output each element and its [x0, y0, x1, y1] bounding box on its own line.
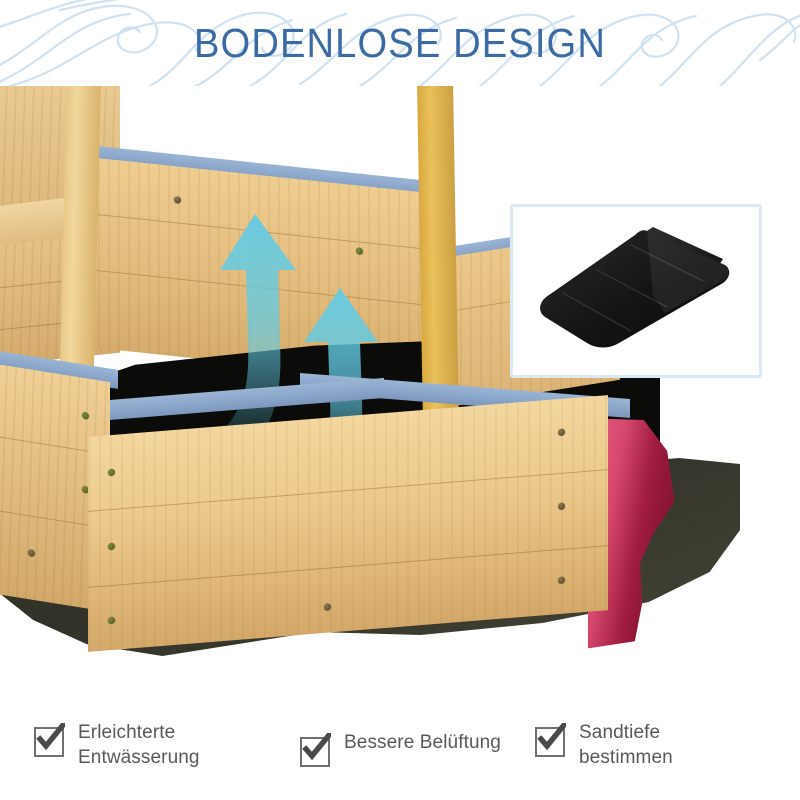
- product-photo: [0, 86, 800, 706]
- feature-list: Erleichterte Entwässerung Bessere Belüft…: [0, 706, 800, 800]
- checkbox-checked-icon: [34, 723, 65, 754]
- checkbox-checked-icon: [535, 723, 566, 754]
- front-wall-panel: [88, 395, 608, 652]
- feature-label: Sandtiefe bestimmen: [579, 720, 673, 770]
- mast-post-center: [417, 86, 459, 427]
- feature-item-drainage: Erleichterte Entwässerung: [34, 720, 200, 770]
- feature-item-sand-depth: Sandtiefe bestimmen: [535, 720, 673, 770]
- feature-label: Erleichterte Entwässerung: [78, 720, 200, 770]
- feature-item-ventilation: Bessere Belüftung: [300, 730, 501, 764]
- product-feature-image: BODENLOSE DESIGN: [0, 0, 800, 800]
- liner-inset: [510, 204, 762, 378]
- page-title: BODENLOSE DESIGN: [28, 20, 772, 67]
- header-banner: BODENLOSE DESIGN: [0, 0, 800, 86]
- geotextile-liner-folded-icon: [535, 225, 739, 353]
- checkbox-checked-icon: [300, 733, 331, 764]
- feature-label: Bessere Belüftung: [344, 730, 501, 755]
